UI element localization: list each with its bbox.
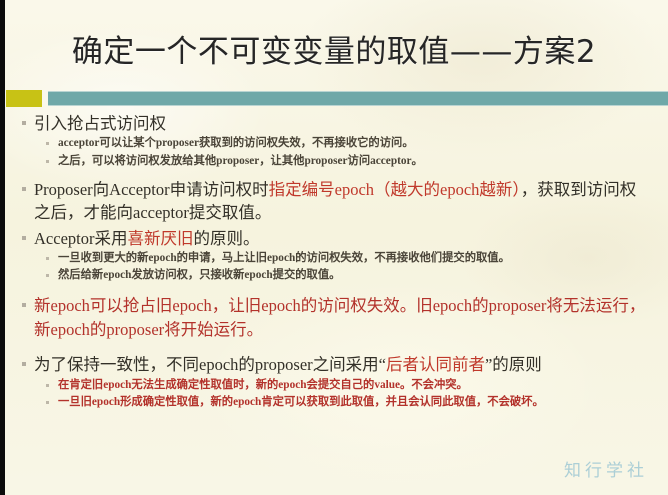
bullet-5-sub-2-text: 一旦旧epoch形成确定性取值，新的epoch肯定可以获取到此取值，并且会认同此… [58, 396, 544, 408]
square-bullet-icon [22, 303, 26, 307]
square-bullet-icon [46, 257, 49, 260]
title-divider [0, 90, 668, 107]
bullet-2-text-emphasis: 指定编号epoch（越大的epoch越新） [269, 180, 521, 199]
square-bullet-icon [46, 142, 49, 145]
bullet-1-sub-2: 之后，可以将访问权发放给其他proposer，让其他proposer访问acce… [0, 153, 650, 170]
accent-square [6, 90, 42, 107]
bullet-3-sub-2: 然后给新epoch发放访问权，只接收新epoch提交的取值。 [0, 267, 650, 284]
bullet-group-5: 为了保持一致性，不同epoch的proposer之间采用“后者认同前者”的原则 … [0, 353, 668, 411]
page-title: 确定一个不可变变量的取值——方案2 [72, 35, 596, 71]
bullet-1-sub-1-text: acceptor可以让某个proposer获取到的访问权失效，不再接收它的访问。 [58, 137, 414, 149]
bullet-3-sub-2-text: 然后给新epoch发放访问权，只接收新epoch提交的取值。 [58, 269, 340, 281]
accent-bar [48, 91, 668, 106]
bullet-1-sub-2-text: 之后，可以将访问权发放给其他proposer，让其他proposer访问acce… [58, 155, 423, 167]
square-bullet-icon [46, 401, 49, 404]
bullet-2-text-part1: Proposer向Acceptor申请访问权时 [34, 180, 269, 199]
bullet-5-sub-1: 在肯定旧epoch无法生成确定性取值时，新的epoch会提交自己的value。不… [0, 377, 650, 394]
square-bullet-icon [22, 362, 26, 366]
bullet-3-text-part1: Acceptor采用 [34, 229, 127, 248]
bullet-5-sub-2: 一旦旧epoch形成确定性取值，新的epoch肯定可以获取到此取值，并且会认同此… [0, 394, 650, 411]
watermark: 知行学社 [564, 456, 648, 481]
bullet-5-sub-1-text: 在肯定旧epoch无法生成确定性取值时，新的epoch会提交自己的value。不… [58, 379, 468, 391]
square-bullet-icon [22, 121, 26, 125]
bullet-3-sub-1: 一旦收到更大的新epoch的申请，马上让旧epoch的访问权失效，不再接收他们提… [0, 250, 650, 267]
square-bullet-icon [22, 187, 26, 191]
bullet-2-main: Proposer向Acceptor申请访问权时指定编号epoch（越大的epoc… [0, 178, 650, 225]
bullet-group-3: Acceptor采用喜新厌旧的原则。 一旦收到更大的新epoch的申请，马上让旧… [0, 227, 668, 285]
bullet-group-4: 新epoch可以抢占旧epoch，让旧epoch的访问权失效。旧epoch的pr… [0, 294, 668, 341]
title-area: 确定一个不可变变量的取值——方案2 [0, 20, 668, 86]
bullet-1-sub-1: acceptor可以让某个proposer获取到的访问权失效，不再接收它的访问。 [0, 135, 650, 152]
square-bullet-icon [46, 384, 49, 387]
bullet-5-main: 为了保持一致性，不同epoch的proposer之间采用“后者认同前者”的原则 [0, 353, 650, 376]
bullet-5-text-part1: 为了保持一致性，不同epoch的proposer之间采用“ [34, 355, 386, 374]
bullet-group-1: 引入抢占式访问权 acceptor可以让某个proposer获取到的访问权失效，… [0, 112, 668, 170]
square-bullet-icon [46, 160, 49, 163]
bullet-3-main: Acceptor采用喜新厌旧的原则。 [0, 227, 650, 250]
bullet-1-main: 引入抢占式访问权 [0, 112, 650, 135]
square-bullet-icon [22, 236, 26, 240]
bullet-3-sub-1-text: 一旦收到更大的新epoch的申请，马上让旧epoch的访问权失效，不再接收他们提… [58, 252, 510, 264]
bullet-3-text-part2: 的原则。 [193, 229, 259, 248]
left-edge-border [0, 0, 5, 495]
bullet-4-text: 新epoch可以抢占旧epoch，让旧epoch的访问权失效。旧epoch的pr… [34, 296, 645, 338]
slide-body: 引入抢占式访问权 acceptor可以让某个proposer获取到的访问权失效，… [0, 112, 668, 413]
bullet-4-main: 新epoch可以抢占旧epoch，让旧epoch的访问权失效。旧epoch的pr… [0, 294, 650, 341]
square-bullet-icon [46, 274, 49, 277]
presentation-slide: 确定一个不可变变量的取值——方案2 引入抢占式访问权 acceptor可以让某个… [0, 0, 668, 495]
bullet-1-text: 引入抢占式访问权 [34, 114, 166, 133]
bullet-5-text-emphasis: 后者认同前者 [386, 355, 485, 374]
bullet-3-text-emphasis: 喜新厌旧 [127, 229, 193, 248]
bullet-5-text-part2: ”的原则 [485, 355, 542, 374]
bullet-group-2: Proposer向Acceptor申请访问权时指定编号epoch（越大的epoc… [0, 178, 668, 225]
